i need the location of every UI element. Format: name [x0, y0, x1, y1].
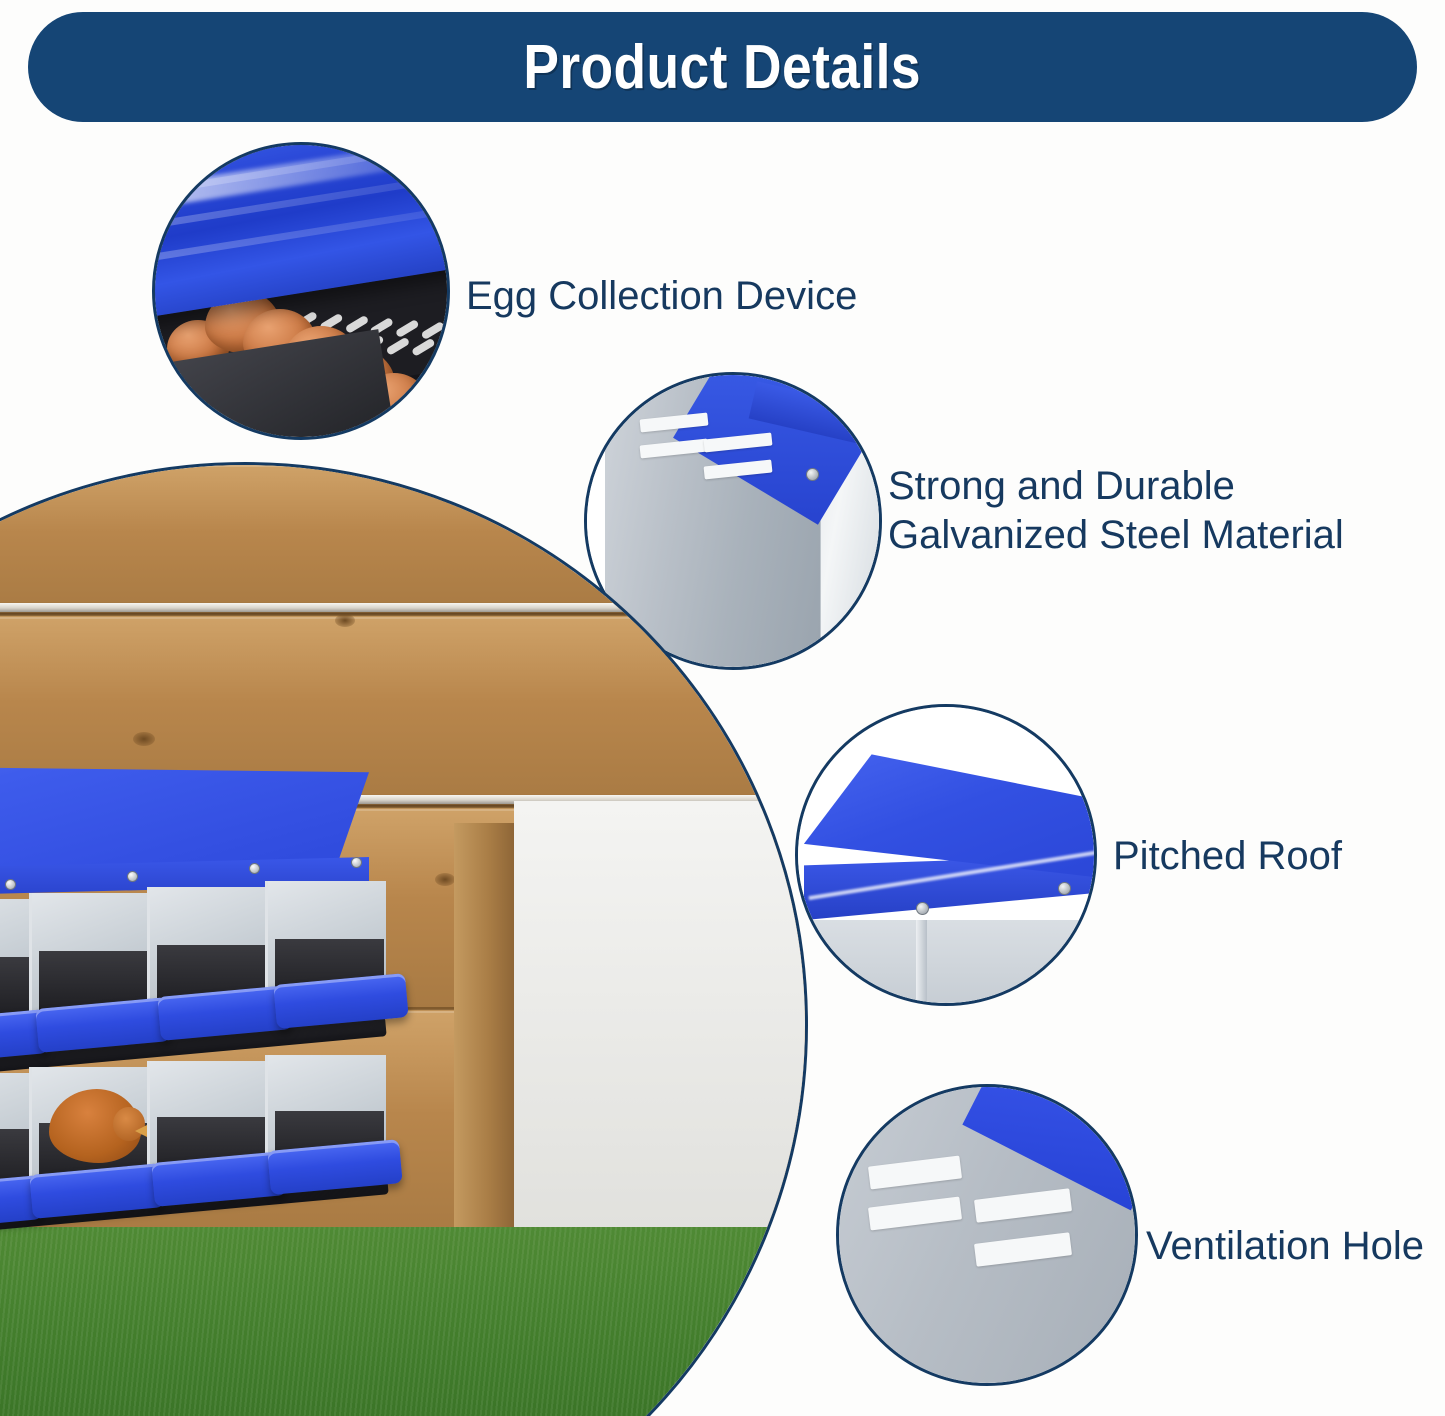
grass-ground [0, 1227, 805, 1416]
hen-lower [39, 1081, 149, 1173]
product-photo [0, 462, 808, 1416]
egg-collection-label: Egg Collection Device [466, 272, 857, 321]
pitched-roof-icon [795, 704, 1097, 1006]
ventilation-hole-label: Ventilation Hole [1146, 1222, 1424, 1271]
ventilation-hole-icon [836, 1084, 1138, 1386]
product-details-page: Product Details [0, 0, 1445, 1416]
page-header-banner: Product Details [28, 12, 1417, 122]
pitched-roof-label: Pitched Roof [1113, 832, 1342, 881]
page-title: Product Details [524, 32, 922, 103]
egg-collection-icon [152, 142, 450, 440]
nesting-box-product [0, 765, 409, 1235]
galvanized-steel-label: Strong and Durable Galvanized Steel Mate… [888, 462, 1344, 560]
